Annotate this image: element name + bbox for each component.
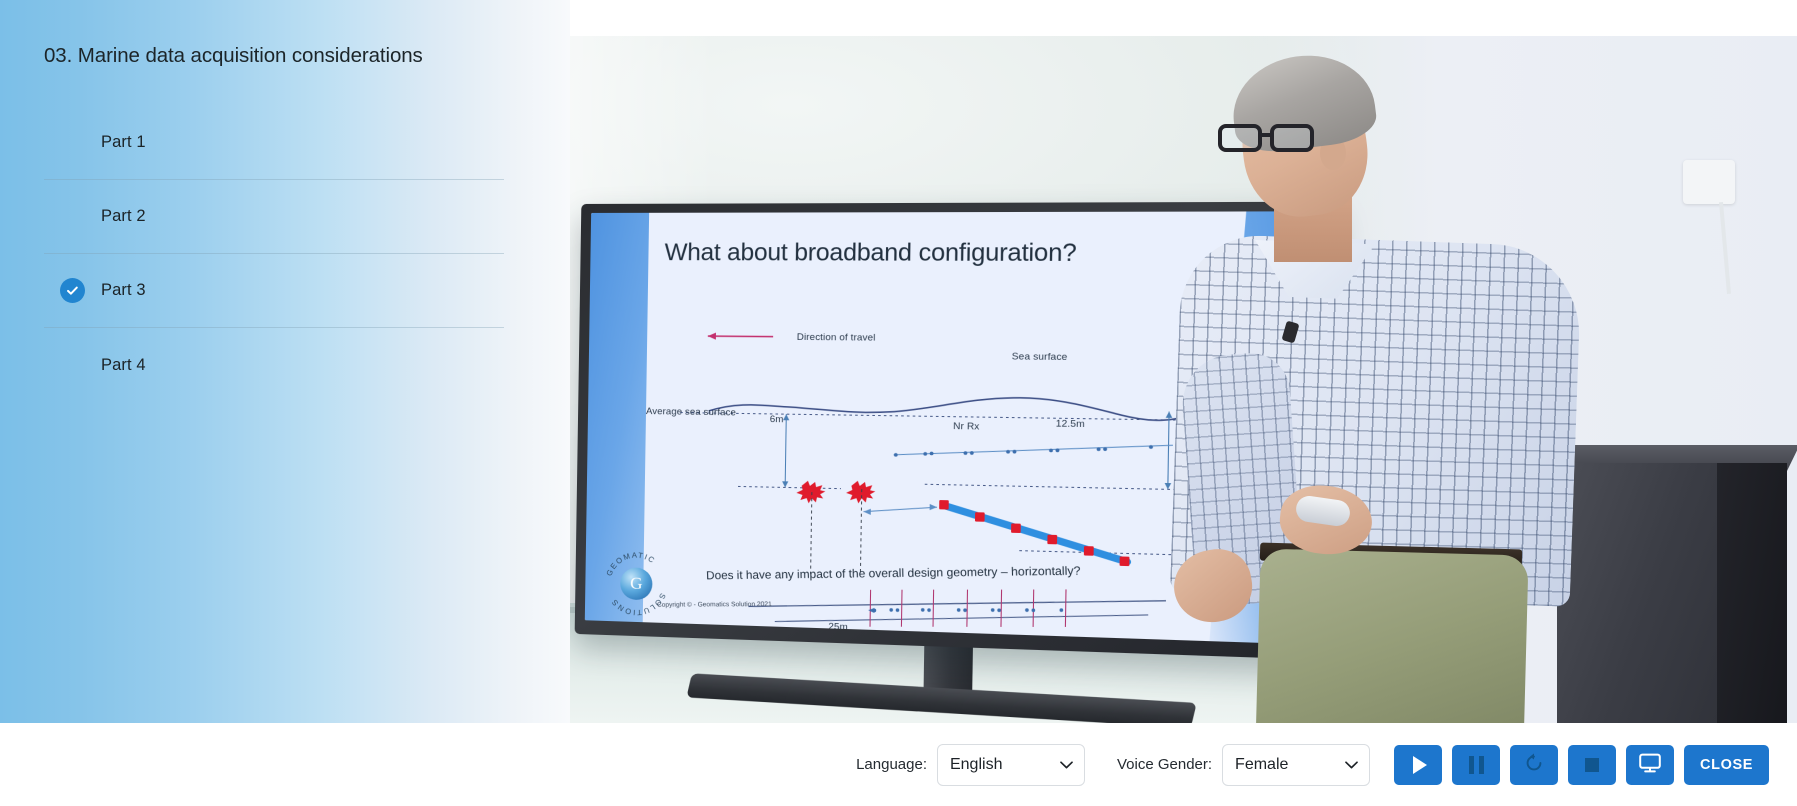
presenter-figure xyxy=(1170,54,1600,723)
voice-gender-select-wrap[interactable]: Female xyxy=(1222,744,1370,786)
sidebar-item-label: Part 2 xyxy=(101,207,146,226)
pause-icon xyxy=(1469,756,1484,774)
stop-icon xyxy=(1585,758,1599,772)
stop-button[interactable] xyxy=(1568,745,1616,785)
pause-button[interactable] xyxy=(1452,745,1500,785)
sidebar-item-label: Part 3 xyxy=(101,281,146,300)
slide-title: What about broadband configuration? xyxy=(664,239,1076,268)
check-circle-icon xyxy=(60,278,85,303)
player-toolbar: Language: English Voice Gender: Female xyxy=(0,723,1797,806)
computer-tower-front-panel xyxy=(1717,463,1787,723)
page-title: 03. Marine data acquisition consideratio… xyxy=(44,44,423,68)
label-average-sea-surface: Average sea surface xyxy=(646,406,736,418)
language-select[interactable]: English xyxy=(937,744,1085,786)
present-screen-button[interactable] xyxy=(1626,745,1674,785)
play-button[interactable] xyxy=(1394,745,1442,785)
sidebar-item-part-2[interactable]: Part 2 xyxy=(44,180,504,254)
replay-icon xyxy=(1523,752,1545,777)
sidebar-item-part-4[interactable]: Part 4 xyxy=(44,328,504,402)
language-label: Language: xyxy=(856,756,927,773)
replay-button[interactable] xyxy=(1510,745,1558,785)
part-3-status-slot xyxy=(44,278,101,303)
wall-socket xyxy=(1683,160,1735,204)
sidebar-item-label: Part 4 xyxy=(101,356,146,375)
voice-gender-label: Voice Gender: xyxy=(1117,756,1212,773)
label-direction-of-travel: Direction of travel xyxy=(797,332,876,344)
glasses-icon xyxy=(1218,124,1326,152)
label-spi-depth: 25m xyxy=(828,621,848,633)
sidebar-item-label: Part 1 xyxy=(101,133,146,152)
label-depth-6m: 6m xyxy=(770,414,784,425)
monitor-icon xyxy=(1638,752,1662,777)
glasses-lens-left xyxy=(1218,124,1262,152)
video-player-viewport[interactable]: What about broadband configuration? xyxy=(570,36,1797,723)
sidebar: 03. Marine data acquisition consideratio… xyxy=(0,0,570,806)
close-button[interactable]: CLOSE xyxy=(1684,745,1769,785)
parts-list: Part 1 Part 2 Part 3 Part 4 xyxy=(44,106,504,402)
course-player-app: 03. Marine data acquisition consideratio… xyxy=(0,0,1797,806)
glasses-lens-right xyxy=(1270,124,1314,152)
sidebar-item-part-3[interactable]: Part 3 xyxy=(44,254,504,328)
label-sea-surface: Sea surface xyxy=(1012,351,1068,363)
play-icon xyxy=(1413,756,1427,774)
label-near-receiver: Nr Rx xyxy=(953,421,979,433)
language-select-wrap[interactable]: English xyxy=(937,744,1085,786)
presenter-trousers xyxy=(1255,549,1528,723)
sidebar-item-part-1[interactable]: Part 1 xyxy=(44,106,504,180)
label-spacing-12-5m: 12.5m xyxy=(1056,418,1085,430)
slide-copyright: Copyright © - Geomatics Solution 2021 xyxy=(657,601,772,609)
voice-gender-select[interactable]: Female xyxy=(1222,744,1370,786)
